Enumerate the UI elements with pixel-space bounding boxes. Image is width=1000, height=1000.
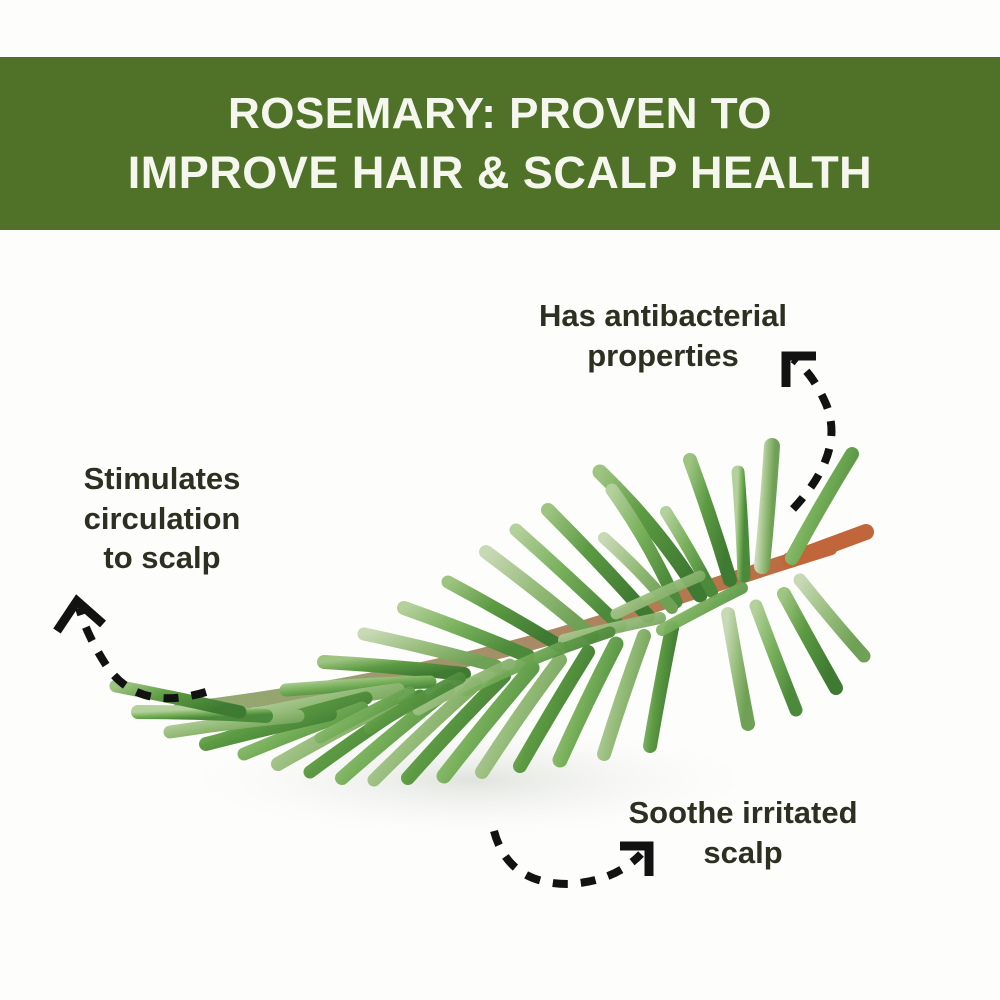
header-title-line-1: ROSEMARY: PROVEN TO [228, 85, 772, 143]
header-title-line-2: IMPROVE HAIR & SCALP HEALTH [128, 143, 872, 202]
annotation-label-soothe: Soothe irritated scalp [588, 793, 898, 872]
annotation-label-circulation: Stimulates circulation to scalp [52, 459, 272, 578]
annotation-label-antibacterial: Has antibacterial properties [498, 296, 828, 375]
infographic-canvas: ROSEMARY: PROVEN TO IMPROVE HAIR & SCALP… [0, 0, 1000, 1000]
header-banner: ROSEMARY: PROVEN TO IMPROVE HAIR & SCALP… [0, 57, 1000, 230]
